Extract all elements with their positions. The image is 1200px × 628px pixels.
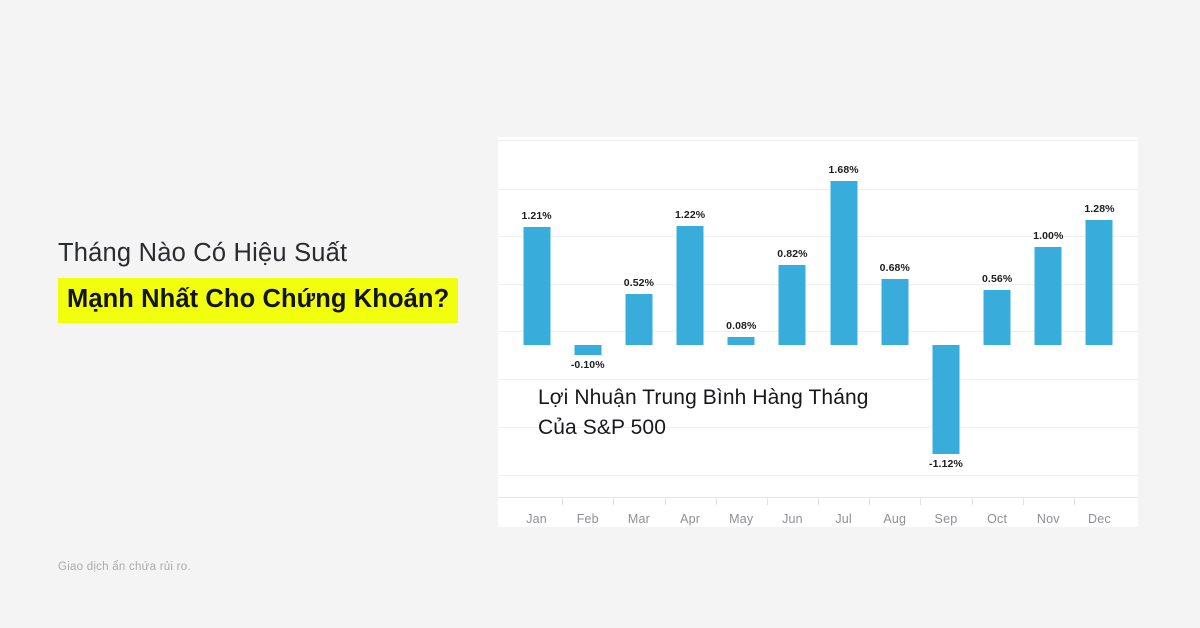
x-axis-label-oct: Oct [972, 498, 1023, 528]
x-axis-label-may: May [716, 498, 767, 528]
chart-title-line-1: Lợi Nhuận Trung Bình Hàng Tháng [538, 383, 869, 413]
x-axis-label-aug: Aug [869, 498, 920, 528]
x-axis-label-nov: Nov [1023, 498, 1074, 528]
x-axis-label-apr: Apr [665, 498, 716, 528]
bar-dec[interactable] [1086, 220, 1113, 345]
bar-slot-jan: 1.21% [511, 137, 562, 497]
bar-value-label-may: 0.08% [726, 320, 756, 332]
x-axis-label-feb: Feb [562, 498, 613, 528]
bar-slot-oct: 0.56% [972, 137, 1023, 497]
bar-mar[interactable] [625, 294, 652, 345]
bar-value-label-aug: 0.68% [880, 262, 910, 274]
bar-jul[interactable] [830, 181, 857, 345]
bar-slot-jun: 0.82% [767, 137, 818, 497]
bar-slot-apr: 1.22% [665, 137, 716, 497]
x-axis-label-sep: Sep [920, 498, 971, 528]
bar-slot-sep: -1.12% [920, 137, 971, 497]
chart-plot-area: 1.21%-0.10%0.52%1.22%0.08%0.82%1.68%0.68… [498, 137, 1138, 497]
bar-feb[interactable] [574, 345, 601, 355]
headline-line-2-wrapper: Mạnh Nhất Cho Chứng Khoán? [58, 278, 478, 323]
bar-value-label-apr: 1.22% [675, 209, 705, 221]
disclaimer-text: Giao dịch ẩn chứa rủi ro. [58, 561, 191, 573]
bar-slot-jul: 1.68% [818, 137, 869, 497]
chart-bars: 1.21%-0.10%0.52%1.22%0.08%0.82%1.68%0.68… [511, 137, 1125, 497]
bar-slot-aug: 0.68% [869, 137, 920, 497]
bar-value-label-oct: 0.56% [982, 273, 1012, 285]
headline-line-1: Tháng Nào Có Hiệu Suất [58, 236, 478, 271]
bar-aug[interactable] [881, 279, 908, 345]
bar-oct[interactable] [984, 290, 1011, 345]
bar-sep[interactable] [932, 345, 959, 454]
bar-value-label-mar: 0.52% [624, 277, 654, 289]
x-axis-label-jul: Jul [818, 498, 869, 528]
chart-title-line-2: Của S&P 500 [538, 413, 869, 443]
headline-line-2-highlighted: Mạnh Nhất Cho Chứng Khoán? [58, 278, 458, 323]
x-axis-label-dec: Dec [1074, 498, 1125, 528]
x-axis-label-jan: Jan [511, 498, 562, 528]
bar-value-label-jun: 0.82% [777, 248, 807, 260]
bar-apr[interactable] [677, 226, 704, 345]
bar-jun[interactable] [779, 265, 806, 345]
bar-value-label-feb: -0.10% [571, 359, 605, 371]
chart-title: Lợi Nhuận Trung Bình Hàng Tháng Của S&P … [538, 383, 869, 443]
bar-value-label-jan: 1.21% [521, 210, 551, 222]
bar-value-label-jul: 1.68% [828, 164, 858, 176]
headline-block: Tháng Nào Có Hiệu Suất Mạnh Nhất Cho Chứ… [58, 236, 478, 323]
bar-nov[interactable] [1035, 247, 1062, 345]
chart-x-axis: JanFebMarAprMayJunJulAugSepOctNovDec [498, 497, 1138, 528]
x-axis-label-mar: Mar [613, 498, 664, 528]
x-axis-label-jun: Jun [767, 498, 818, 528]
bar-value-label-dec: 1.28% [1084, 203, 1114, 215]
bar-value-label-sep: -1.12% [929, 458, 963, 470]
chart-panel: 1.21%-0.10%0.52%1.22%0.08%0.82%1.68%0.68… [498, 137, 1138, 527]
bar-slot-may: 0.08% [716, 137, 767, 497]
chart-x-axis-ticks: JanFebMarAprMayJunJulAugSepOctNovDec [511, 498, 1125, 528]
bar-slot-nov: 1.00% [1023, 137, 1074, 497]
bar-jan[interactable] [523, 227, 550, 345]
bar-may[interactable] [728, 337, 755, 345]
bar-value-label-nov: 1.00% [1033, 230, 1063, 242]
bar-slot-mar: 0.52% [613, 137, 664, 497]
bar-slot-feb: -0.10% [562, 137, 613, 497]
bar-slot-dec: 1.28% [1074, 137, 1125, 497]
